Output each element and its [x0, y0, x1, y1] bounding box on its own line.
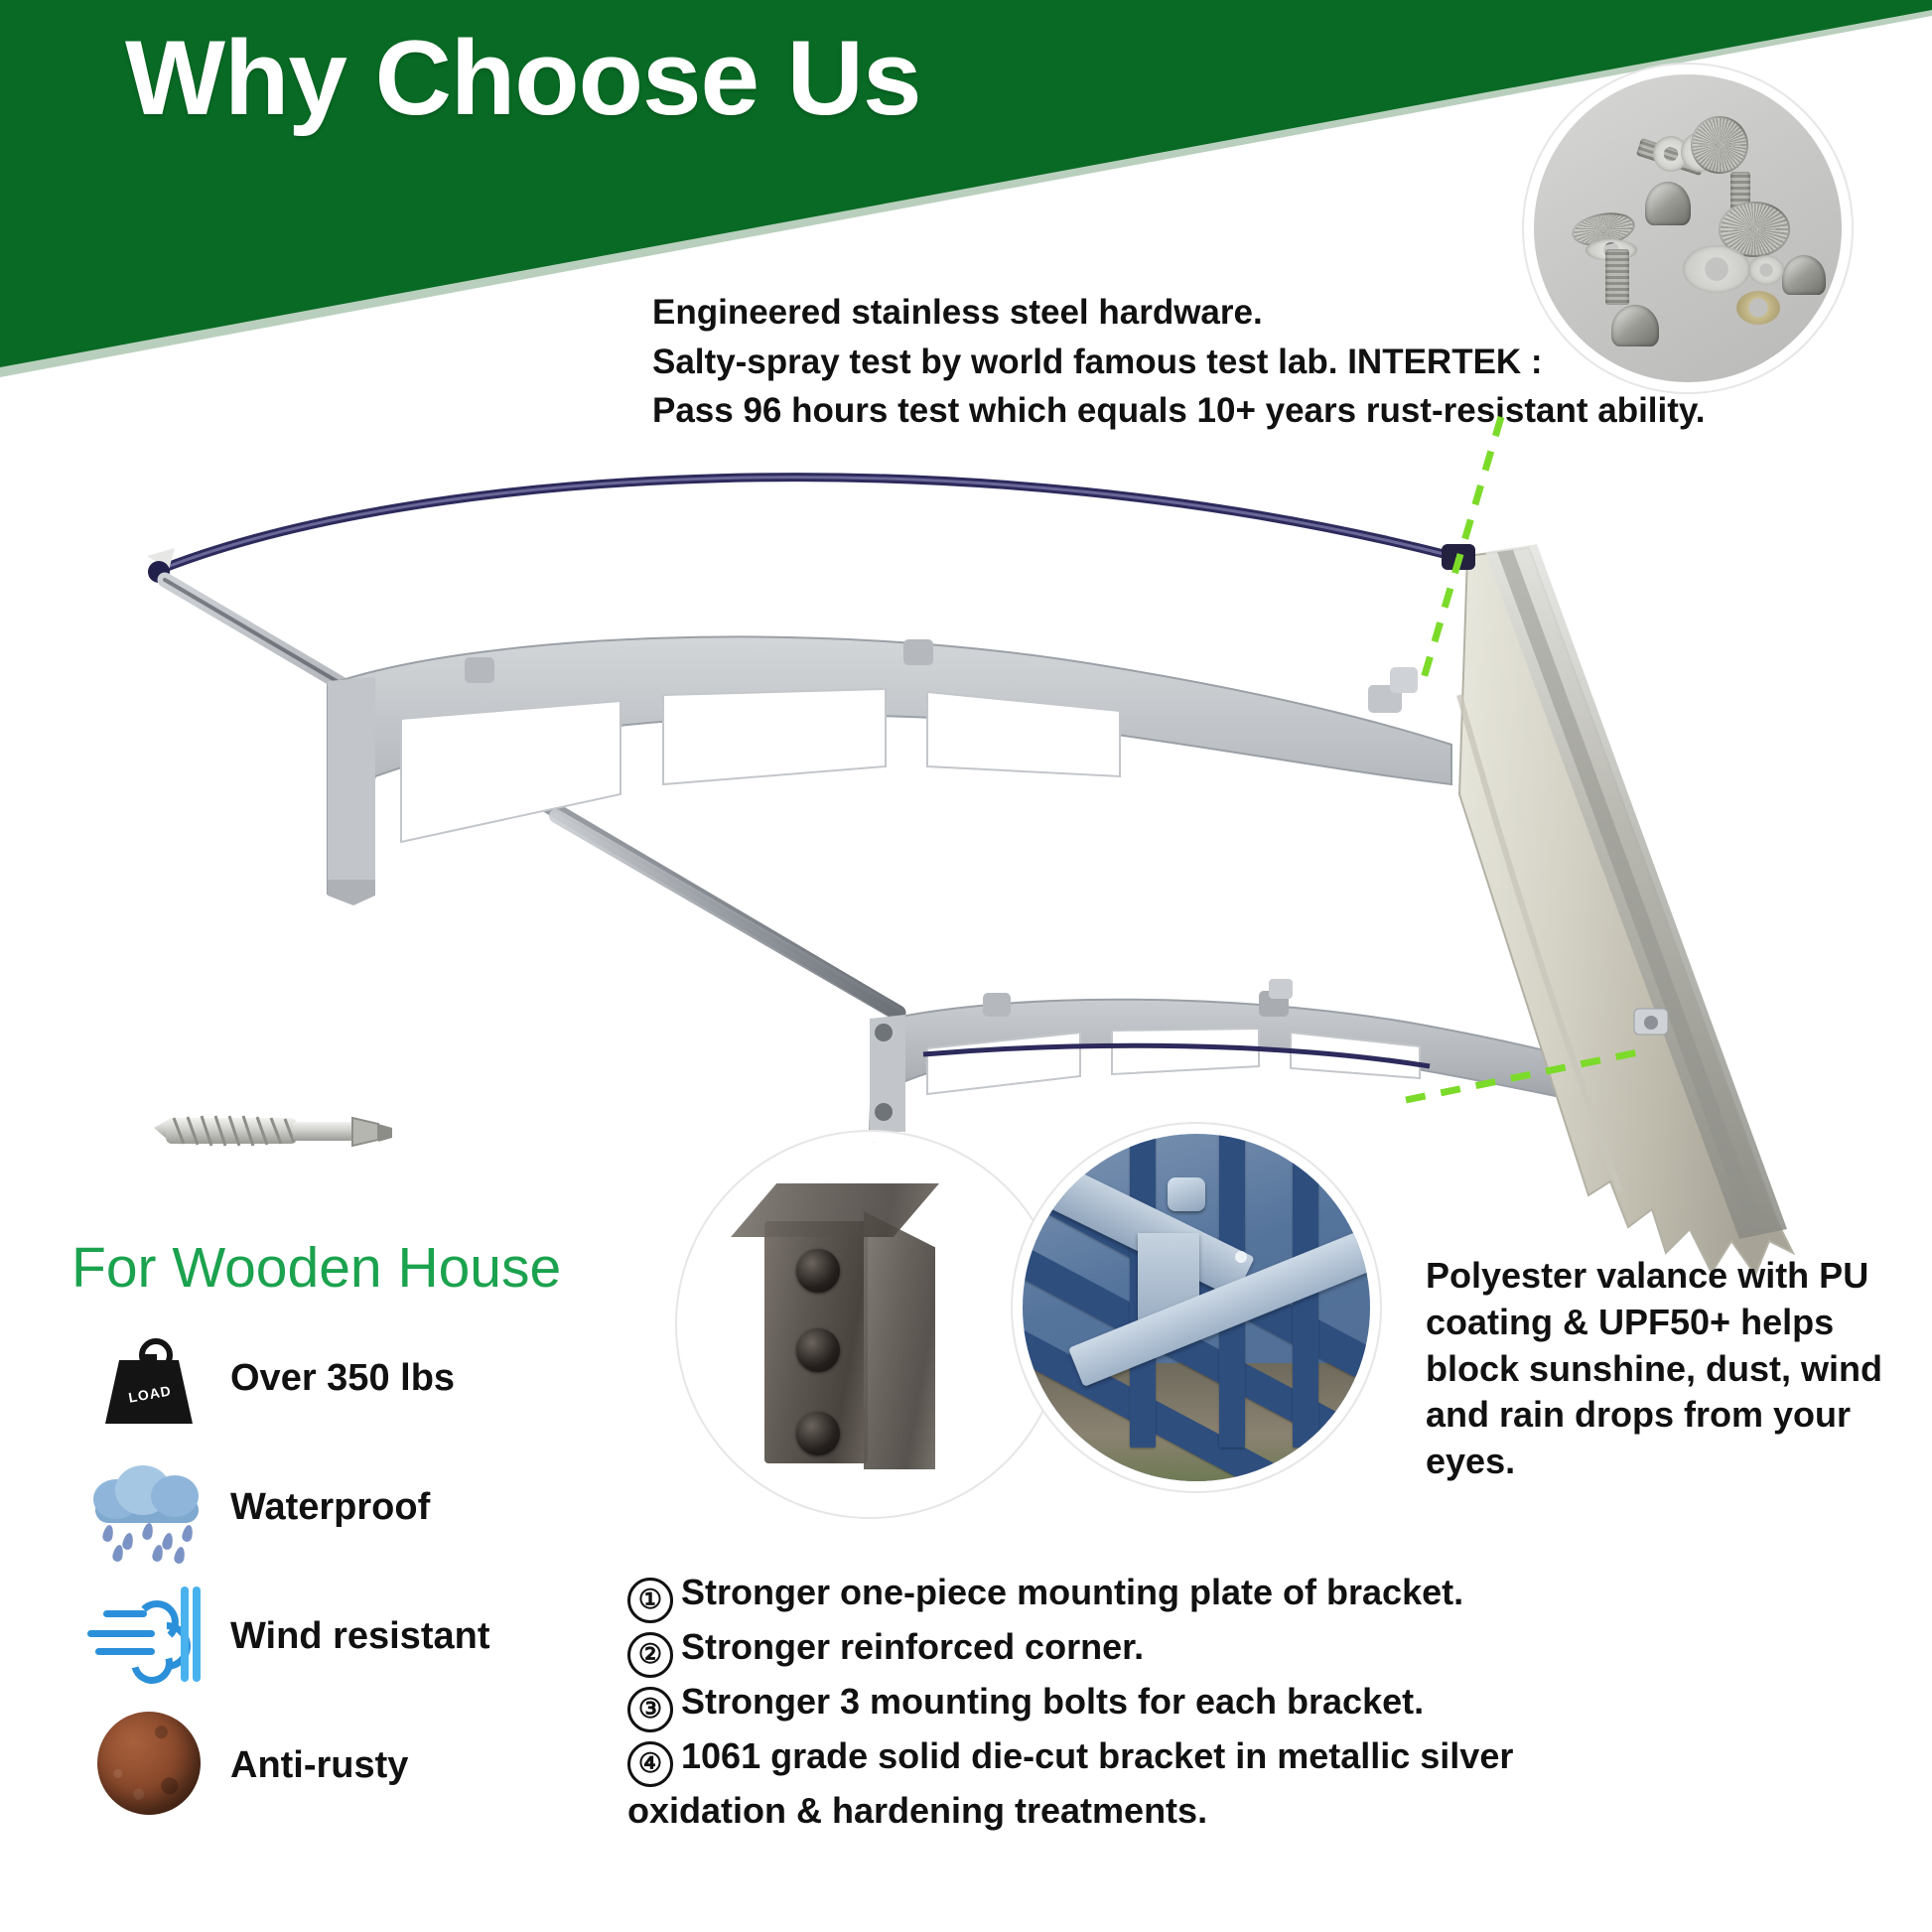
list-text-1: Stronger one-piece mounting plate of bra…: [681, 1572, 1463, 1612]
lag-screw-icon: [144, 1082, 402, 1191]
wooden-house-heading: For Wooden House: [71, 1235, 561, 1301]
hardware-photo-circle: [1534, 74, 1842, 382]
feature-label-wind: Wind resistant: [230, 1615, 489, 1658]
infographic-canvas: Why Choose Us: [0, 0, 1932, 1932]
list-number-2: ②: [627, 1632, 673, 1678]
page-title: Why Choose Us: [125, 22, 920, 133]
feature-list: LOAD Over 350 lbs W: [71, 1320, 548, 1837]
numbered-item-1: ①Stronger one-piece mounting plate of br…: [627, 1569, 1630, 1623]
numbered-feature-list: ①Stronger one-piece mounting plate of br…: [627, 1569, 1630, 1836]
numbered-item-2: ②Stronger reinforced corner.: [627, 1623, 1630, 1678]
feature-label-load: Over 350 lbs: [230, 1357, 455, 1400]
list-text-3: Stronger 3 mounting bolts for each brack…: [681, 1681, 1424, 1722]
bracket-plate-photo-circle: [687, 1142, 1052, 1507]
list-text-2: Stronger reinforced corner.: [681, 1626, 1144, 1667]
load-weight-icon: LOAD: [71, 1320, 220, 1436]
hardware-line-3: Pass 96 hours test which equals 10+ year…: [652, 386, 1706, 436]
numbered-item-4: ④1061 grade solid die-cut bracket in met…: [627, 1732, 1630, 1836]
valance-callout-text: Polyester valance with PU coating & UPF5…: [1426, 1253, 1902, 1485]
wind-icon: [71, 1579, 220, 1694]
list-text-4: 1061 grade solid die-cut bracket in meta…: [627, 1735, 1513, 1831]
feature-row-antirusty: Anti-rusty: [71, 1708, 548, 1823]
list-number-1: ①: [627, 1578, 673, 1623]
feature-row-load: LOAD Over 350 lbs: [71, 1320, 548, 1436]
list-number-3: ③: [627, 1687, 673, 1732]
rust-ball-icon: [71, 1708, 220, 1823]
rail-install-photo-circle: [1023, 1134, 1370, 1481]
feature-row-wind: Wind resistant: [71, 1579, 548, 1694]
feature-label-waterproof: Waterproof: [230, 1486, 430, 1529]
list-number-4: ④: [627, 1741, 673, 1787]
feature-row-waterproof: Waterproof: [71, 1449, 548, 1565]
rain-cloud-icon: [71, 1449, 220, 1565]
feature-label-antirusty: Anti-rusty: [230, 1744, 408, 1787]
numbered-item-3: ③Stronger 3 mounting bolts for each brac…: [627, 1678, 1630, 1732]
